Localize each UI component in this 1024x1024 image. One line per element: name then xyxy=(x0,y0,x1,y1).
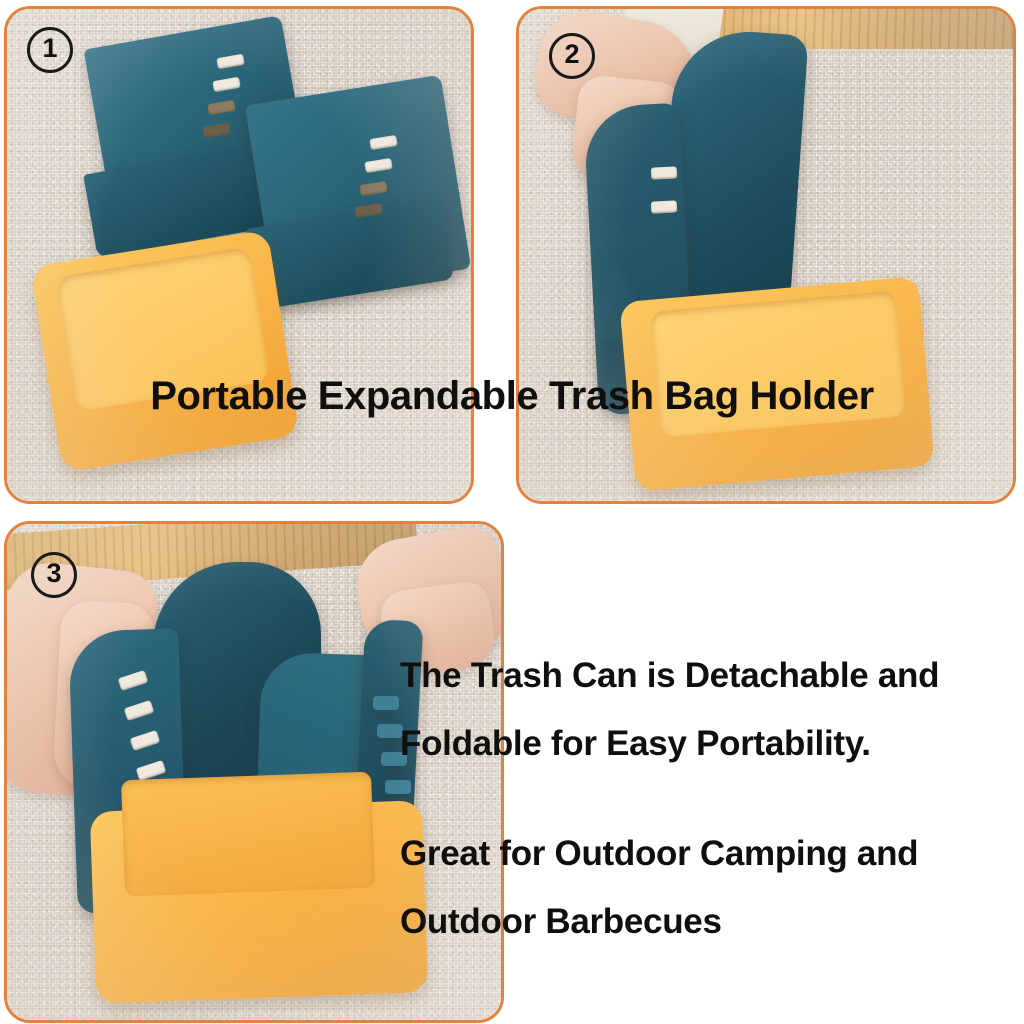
tab-icon-1 xyxy=(373,696,399,710)
panel-2-inserting-wall: 2 xyxy=(516,6,1016,504)
step-badge-1: 1 xyxy=(27,27,73,73)
caption-outdoor-line-1: Great for Outdoor Camping and xyxy=(400,820,1020,888)
caption-detachable: The Trash Can is Detachable and Foldable… xyxy=(400,642,1020,778)
caption-outdoor-line-2: Outdoor Barbecues xyxy=(400,888,1020,956)
orange-tray-cavity xyxy=(121,772,375,897)
panel-2-photo xyxy=(519,9,1013,501)
step-badge-3: 3 xyxy=(31,552,77,598)
caption-detachable-line-2: Foldable for Easy Portability. xyxy=(400,710,1020,778)
caption-block: The Trash Can is Detachable and Foldable… xyxy=(400,642,1020,956)
step-badge-2: 2 xyxy=(549,33,595,79)
caption-outdoor: Great for Outdoor Camping and Outdoor Ba… xyxy=(400,820,1020,956)
slot-icon-10 xyxy=(651,200,678,213)
infographic-canvas: 1 2 xyxy=(0,0,1024,1024)
panel-1-disassembled-parts: 1 xyxy=(4,6,474,504)
caption-detachable-line-1: The Trash Can is Detachable and xyxy=(400,642,1020,710)
page-title: Portable Expandable Trash Bag Holder xyxy=(0,374,1024,419)
slot-icon-9 xyxy=(651,166,678,179)
panel-1-photo xyxy=(7,9,471,501)
caption-spacer xyxy=(400,778,1020,820)
